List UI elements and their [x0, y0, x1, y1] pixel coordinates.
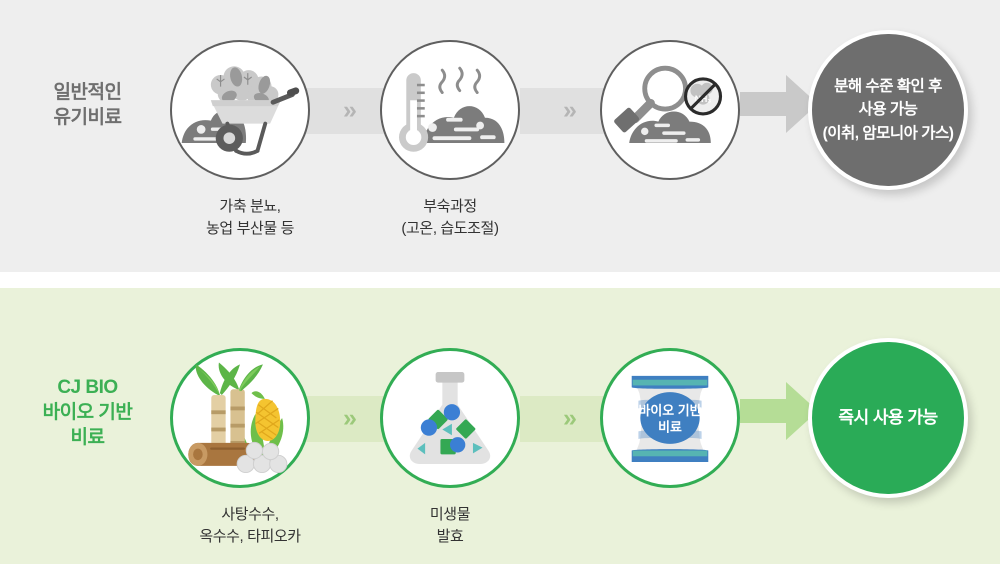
- result-text-cjbio: 즉시 사용 가능: [838, 405, 937, 431]
- chevron-double-right-icon: »: [343, 98, 357, 123]
- row-label-conventional: 일반적인 유기비료: [10, 80, 165, 130]
- chevron-double-right-icon: »: [563, 98, 577, 123]
- row-label-cjbio: CJ BIO 바이오 기반 비료: [10, 375, 165, 450]
- process-arrow-conventional: [740, 75, 818, 133]
- step-caption-microbial-fermentation: 미생물 발효: [340, 504, 560, 548]
- row-label-conventional-line-1: 일반적인: [10, 80, 165, 105]
- chevron-double-right-icon: »: [563, 406, 577, 431]
- row-label-cjbio-line-2: 바이오 기반: [10, 400, 165, 425]
- bag-label-line-2: 비료: [658, 419, 682, 434]
- row-label-cjbio-line-3: 비료: [10, 425, 165, 450]
- step-caption-sugarcane-corn-tapioca: 사탕수수, 옥수수, 타피오카: [140, 504, 360, 548]
- step-icon-wheelbarrow-compost[interactable]: [170, 40, 310, 180]
- step-icon-inspection-no-ammonia[interactable]: NH₃: [600, 40, 740, 180]
- step-icon-thermometer-composting[interactable]: [380, 40, 520, 180]
- result-text-conventional: 분해 수준 확인 후 사용 가능 (이취, 암모니아 가스): [823, 75, 954, 145]
- result-bubble-cjbio[interactable]: 즉시 사용 가능: [808, 338, 968, 498]
- chevron-double-right-icon: »: [343, 406, 357, 431]
- process-arrow-cjbio: [740, 382, 818, 440]
- step-icon-fertilizer-bag[interactable]: 바이오 기반 비료: [600, 348, 740, 488]
- step-caption-composting-process: 부숙과정 (고온, 습도조절): [340, 196, 560, 240]
- step-icon-flask-fermentation[interactable]: [380, 348, 520, 488]
- infographic-stage: 일반적인 유기비료 » »: [0, 0, 1000, 564]
- result-bubble-conventional[interactable]: 분해 수준 확인 후 사용 가능 (이취, 암모니아 가스): [808, 30, 968, 190]
- row-label-cjbio-line-1: CJ BIO: [10, 375, 165, 400]
- step-caption-livestock-manure: 가축 분뇨, 농업 부산물 등: [140, 196, 360, 240]
- row-label-conventional-line-2: 유기비료: [10, 105, 165, 130]
- step-icon-sugarcane-corn-tapioca[interactable]: [170, 348, 310, 488]
- bag-label-line-1: 바이오 기반: [639, 403, 702, 418]
